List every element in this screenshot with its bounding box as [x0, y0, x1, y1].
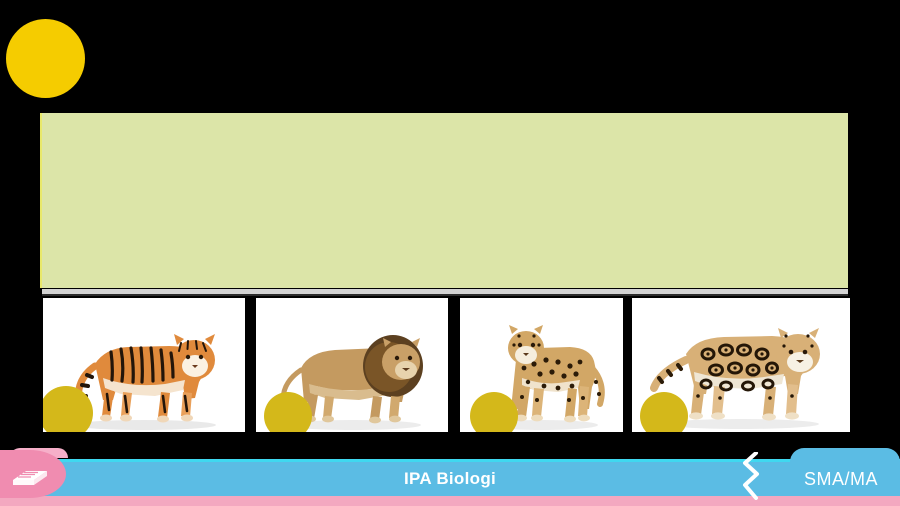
grade-level: SMA/MA	[804, 462, 878, 496]
gallery-card-leopard[interactable]	[460, 298, 623, 432]
footer-pink-strip	[0, 496, 900, 506]
footer-bar: IPA Biologi SMA/MA	[0, 450, 900, 506]
stacked-books-icon	[10, 460, 50, 490]
gallery-card-jaguar[interactable]	[632, 298, 850, 432]
zigzag-divider-icon	[739, 452, 765, 500]
subject-title-text: IPA Biologi	[404, 469, 496, 489]
slide-canvas: IPA Biologi SMA/MA	[0, 0, 900, 506]
panel-left-edge	[40, 113, 42, 288]
gallery-card-tiger[interactable]	[43, 298, 245, 432]
image-gallery	[0, 298, 900, 434]
panel-shadow	[42, 289, 848, 296]
yellow-dot-leopard	[470, 392, 518, 432]
grade-level-text: SMA/MA	[804, 469, 878, 490]
yellow-dot-jaguar	[640, 392, 688, 432]
content-panel	[42, 113, 848, 288]
subject-title: IPA Biologi	[0, 462, 900, 496]
yellow-circle-decoration	[6, 19, 85, 98]
yellow-dot-lion	[264, 392, 312, 432]
panel-text	[42, 113, 848, 141]
gallery-card-lion[interactable]	[256, 298, 448, 432]
panel-shadow-dark	[42, 294, 848, 296]
footer-grade-bump	[790, 448, 900, 462]
